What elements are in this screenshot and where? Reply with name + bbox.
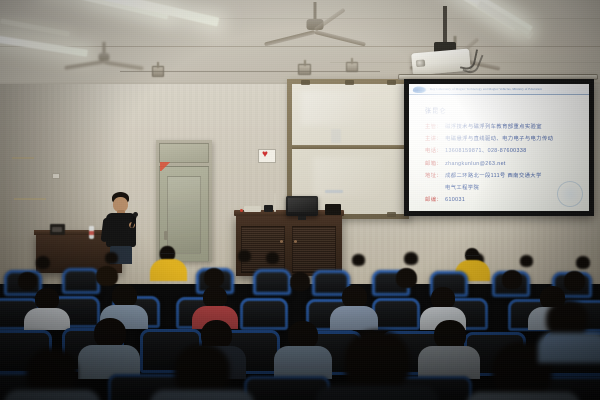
lecture-hall-photo: Key Laboratory of Maglev Technology and …: [0, 0, 600, 400]
lectern-knob: [280, 240, 283, 243]
slide-row-key: 邮编：: [425, 195, 442, 203]
audience-member: [150, 246, 188, 280]
ceiling-fan: [58, 42, 150, 72]
slide-row-value: 电气工程学院: [445, 183, 479, 191]
whiteboard-clip: [301, 80, 310, 85]
slide-row-value: 磁浮技术与磁浮列车教育部重点实验室: [445, 122, 542, 130]
podium-monitor-screen: [288, 198, 316, 212]
audience-member: [4, 348, 100, 400]
lecture-hall-seat: [253, 269, 291, 295]
ceiling-fan: [255, 2, 375, 42]
audience-shoulders: [24, 308, 70, 330]
whiteboard-clip: [387, 80, 396, 85]
whiteboard-residue: [331, 129, 341, 143]
slide-row: 地址： 成都二环路北一段111号 西南交通大学: [425, 171, 581, 179]
slide-row-key: 主管：: [425, 122, 442, 130]
podium-equipment: [325, 204, 341, 215]
audience-member: [24, 288, 70, 328]
audience-member: [502, 270, 522, 289]
slide-row-value: 电磁悬浮与直线驱动、电力电子与电力传动: [445, 134, 553, 142]
audience-shoulders: [316, 386, 438, 400]
heart-safety-sign: [258, 149, 276, 163]
lectern: [236, 214, 342, 276]
audience-shoulders: [150, 390, 254, 400]
slide-row: 电话： 13608159871、028-87600338: [425, 146, 581, 154]
whiteboard-glare: [313, 157, 383, 197]
podium-monitor: [286, 196, 318, 216]
audience-member: [290, 272, 310, 291]
glasses-icon: [160, 253, 175, 255]
audience-member: [396, 268, 417, 288]
audience-member: [538, 300, 600, 362]
audience-head: [431, 287, 455, 309]
audience-head: [203, 286, 227, 308]
slide-row: 主管： 磁浮技术与磁浮列车教育部重点实验室: [425, 122, 581, 130]
bottle-label: [89, 231, 94, 235]
projection-screen: Key Laboratory of Maglev Technology and …: [404, 79, 594, 216]
audience-member: [266, 252, 279, 264]
slide-row-value: 成都二环路北一段111号 西南交通大学: [445, 171, 542, 179]
projector-lens: [416, 59, 426, 67]
audience-head: [344, 330, 410, 392]
audience-head: [342, 285, 367, 308]
lecture-hall-door: [156, 140, 212, 262]
wall-speaker: [298, 64, 311, 75]
wall-scuff: [14, 198, 46, 200]
slide-row-key: 地址：: [425, 171, 442, 179]
audience-shoulders: [4, 390, 100, 400]
slide-row-key: 邮箱：: [425, 159, 442, 167]
microphone-head: [133, 212, 138, 217]
door-corner-tag: [160, 162, 172, 171]
slide-row-value: zhangkunlun@263.net: [445, 161, 506, 167]
ceiling-rail: [120, 71, 380, 72]
lectern-panel: [292, 226, 336, 273]
slide-title: 张昆仑: [425, 106, 581, 115]
audience-shoulders: [466, 392, 580, 400]
slide-row-value: 610031: [445, 197, 465, 203]
glasses-icon: [465, 255, 479, 257]
slide-row-key: 主讲：: [425, 134, 442, 142]
audience-head: [26, 348, 78, 396]
audience-member: [520, 255, 533, 267]
audience-member: [150, 344, 254, 400]
slide-banner: Key Laboratory of Maglev Technology and …: [409, 84, 589, 95]
lecture-hall-seat: [372, 298, 420, 330]
whiteboard-residue: [325, 190, 343, 193]
audience-head: [288, 321, 318, 349]
slide-row: 主讲： 电磁悬浮与直线驱动、电力电子与电力传动: [425, 134, 581, 142]
audience-member: [330, 285, 378, 329]
audience-member: [36, 256, 50, 269]
audience-shoulders: [538, 333, 600, 363]
presenter: [96, 192, 144, 262]
slide-watermark: [557, 181, 583, 207]
audience-head: [434, 320, 466, 349]
audience-head: [174, 344, 230, 396]
podium-device: [264, 205, 273, 212]
door-handle: [164, 231, 168, 240]
whiteboard-clip: [387, 212, 396, 217]
water-bottle: [89, 226, 94, 239]
whiteboard-glare: [301, 91, 361, 125]
wall-scuff: [12, 157, 34, 159]
lab-logo-icon: [412, 86, 427, 93]
audience-member: [316, 330, 438, 400]
podium-microphone: [274, 193, 276, 212]
audience-member: [204, 268, 224, 287]
cabinet-equipment: [52, 227, 62, 232]
slide-row: 邮箱： zhangkunlun@263.net: [425, 159, 581, 167]
lectern-knob: [294, 240, 297, 243]
podium-indicator: [240, 209, 243, 212]
door-transom-window: [159, 143, 209, 163]
lectern-panel: [241, 226, 285, 273]
audience-shoulders: [330, 306, 378, 330]
door-panel: [167, 176, 201, 254]
audience-head: [35, 288, 59, 310]
audience-member: [404, 252, 418, 265]
projector-mount-rod: [443, 6, 447, 46]
audience-head: [94, 318, 126, 348]
slide-banner-text: Key Laboratory of Maglev Technology and …: [430, 87, 542, 91]
wall-outlet: [52, 173, 60, 179]
slide-row-key: 电话：: [425, 146, 442, 154]
audience-member: [96, 266, 118, 286]
whiteboard-divider: [292, 145, 404, 149]
audience-member: [576, 256, 590, 269]
podium-monitor-stand: [298, 216, 306, 220]
slide-row-value: 13608159871、028-87600338: [445, 146, 526, 154]
podium-paper: [244, 206, 261, 212]
audience-member: [105, 252, 118, 264]
whiteboard-clip: [345, 80, 354, 85]
screen-surface: Key Laboratory of Maglev Technology and …: [409, 84, 589, 211]
audience-shoulders: [150, 259, 187, 281]
audience-member: [238, 250, 251, 262]
audience-member: [352, 254, 365, 266]
audience-head: [112, 284, 137, 307]
